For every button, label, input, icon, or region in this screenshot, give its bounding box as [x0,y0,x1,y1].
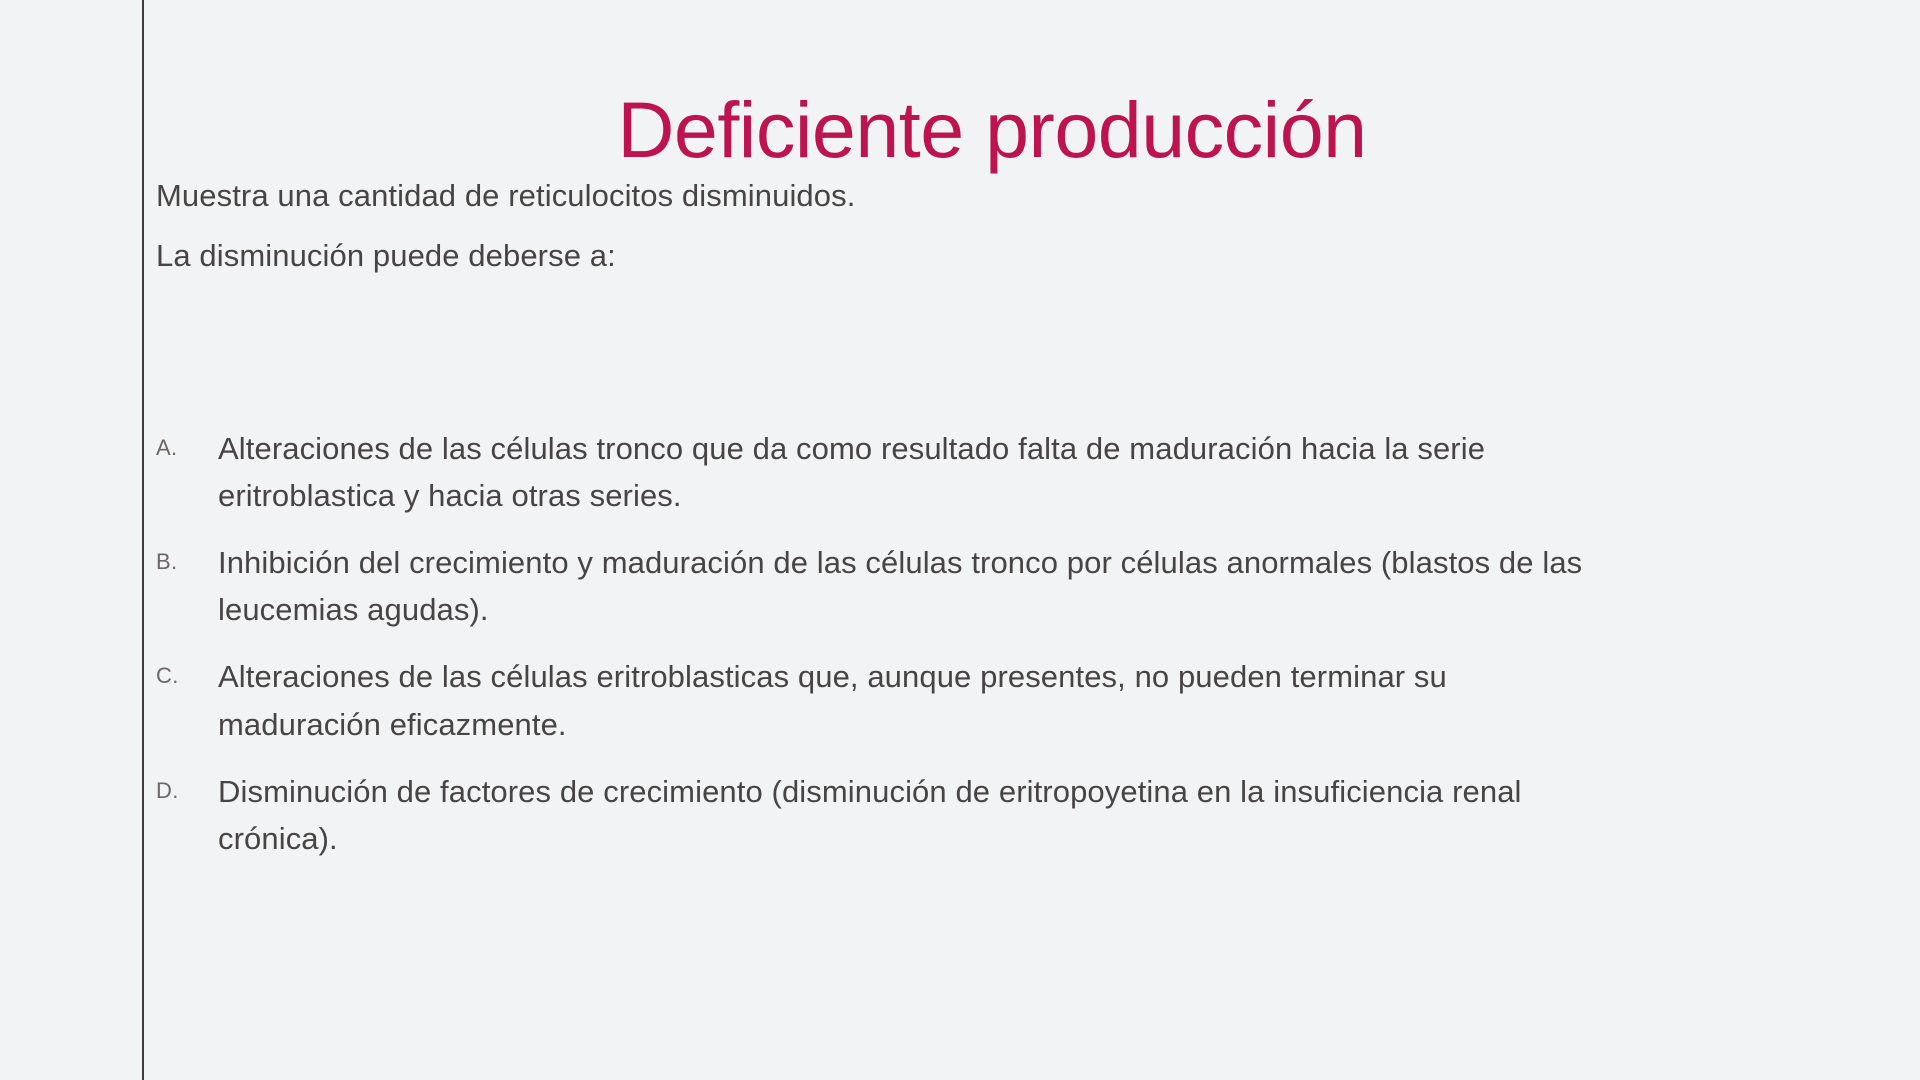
list-item-text-a: Alteraciones de las células tronco que d… [218,425,1578,519]
list-item-text-d: Disminución de factores de crecimiento (… [218,768,1618,862]
intro-line-1: Muestra una cantidad de reticulocitos di… [156,166,1856,226]
list-item-marker-c: C. [156,653,218,687]
list-item-marker-b: B. [156,539,218,573]
answer-list: A. Alteraciones de las células tronco qu… [156,425,1886,882]
list-item: A. Alteraciones de las células tronco qu… [156,425,1886,519]
intro-line-2: La disminución puede deberse a: [156,226,1856,286]
list-item: D. Disminución de factores de crecimient… [156,768,1886,862]
intro-paragraphs: Muestra una cantidad de reticulocitos di… [156,166,1856,287]
slide-title: Deficiente producción [142,87,1842,172]
slide-content-area: Deficiente producción Muestra una cantid… [142,0,1920,1080]
list-item-text-c: Alteraciones de las células eritroblasti… [218,653,1618,747]
presentation-slide: Deficiente producción Muestra una cantid… [0,0,1920,1080]
list-item: C. Alteraciones de las células eritrobla… [156,653,1886,747]
list-item-marker-a: A. [156,425,218,459]
list-item: B. Inhibición del crecimiento y maduraci… [156,539,1886,633]
list-item-marker-d: D. [156,768,218,802]
list-item-text-b: Inhibición del crecimiento y maduración … [218,539,1618,633]
